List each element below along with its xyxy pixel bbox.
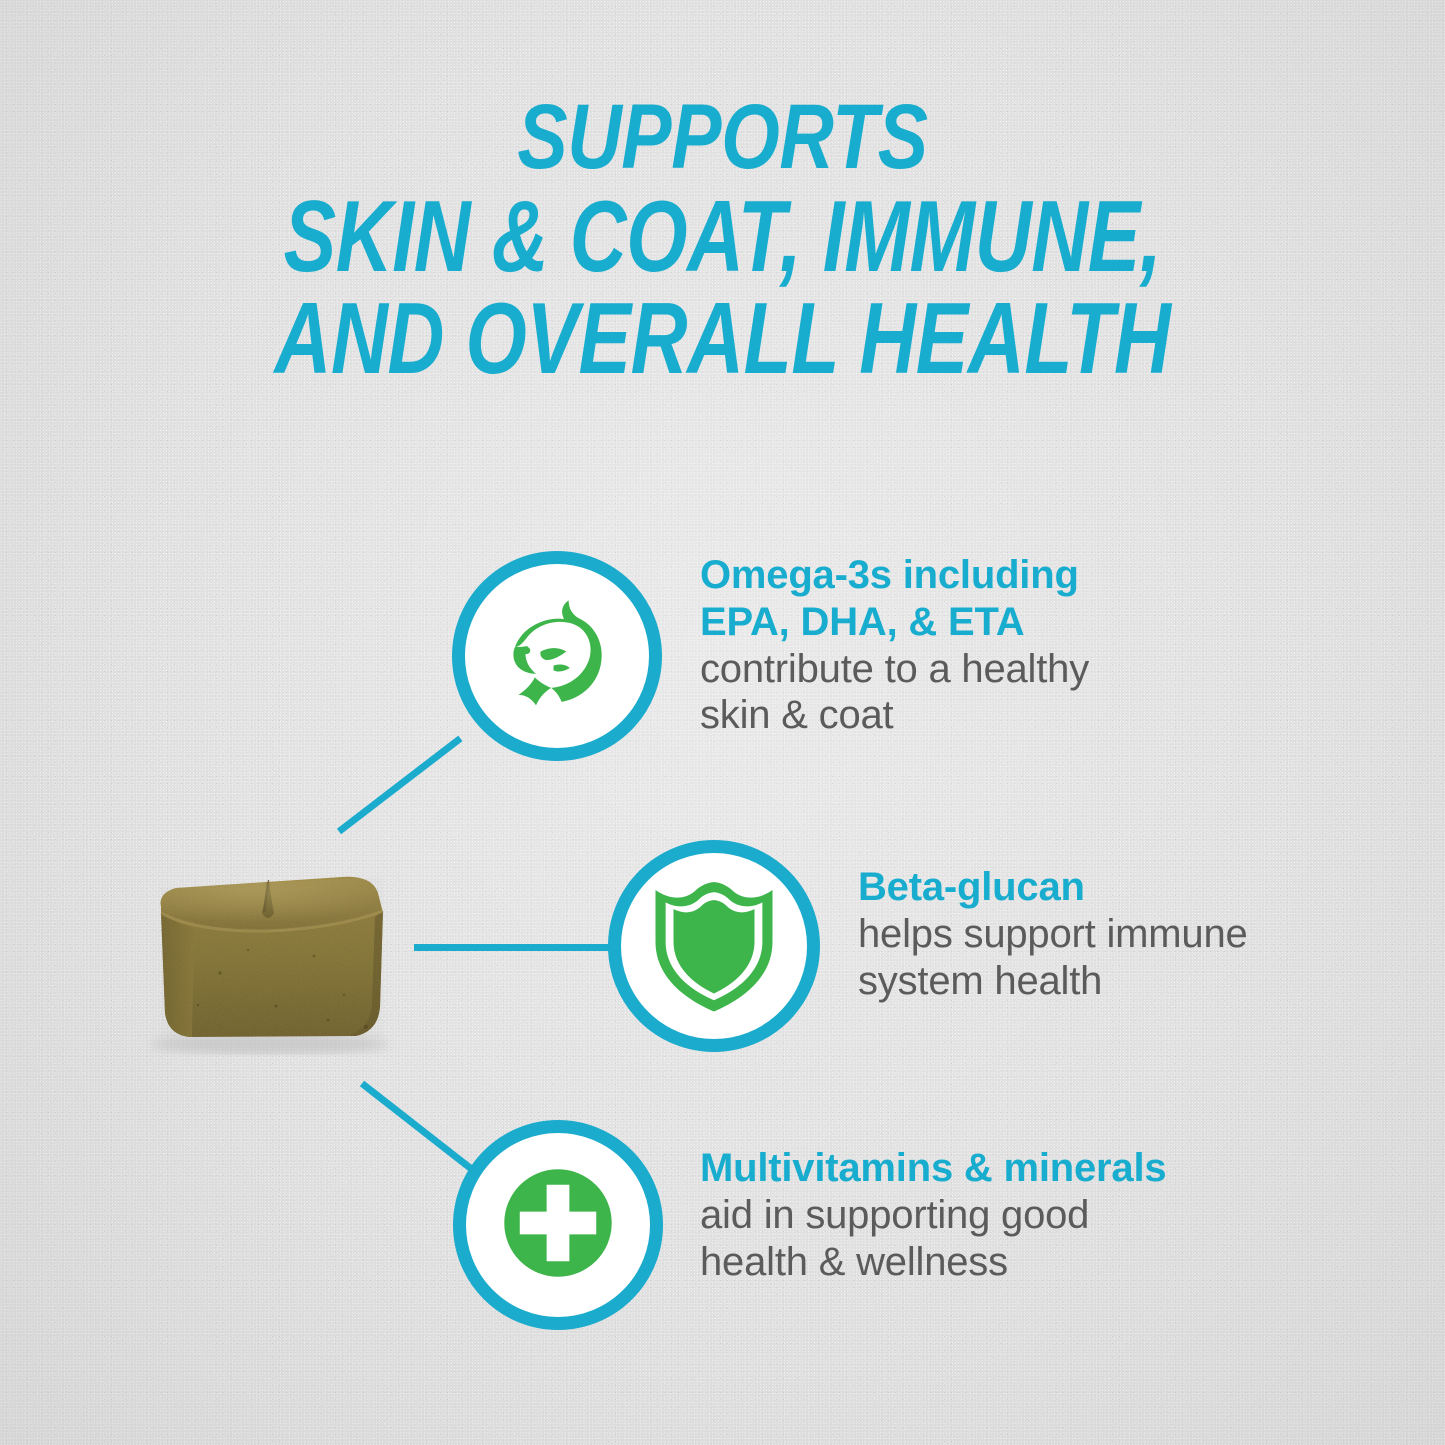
connector-line-fish [337,736,463,835]
connector-line-shield [414,944,614,951]
feature-icon-circle-fish[interactable] [452,551,662,761]
feature-text-fish: Omega-3s including EPA, DHA, & ETA contr… [700,552,1220,739]
feature-body-cross-line2: health & wellness [700,1239,1300,1286]
connector-line-cross [360,1081,486,1182]
feature-icon-circle-shield[interactable] [608,840,820,1052]
shield-icon [646,872,782,1021]
feature-body-shield-line2: system health [858,958,1378,1005]
fish-icon [487,584,627,729]
feature-title-cross: Multivitamins & minerals [700,1145,1300,1192]
feature-title-fish-line1: Omega-3s including [700,552,1220,599]
headline-line-3: AND OVERALL HEALTH [159,289,1286,389]
feature-text-cross: Multivitamins & minerals aid in supporti… [700,1145,1300,1285]
soft-chew-product-image [128,855,408,1055]
headline-line-2: SKIN & COAT, IMMUNE, [159,187,1286,287]
feature-body-shield-line1: helps support immune [858,911,1378,958]
feature-body-fish-line2: skin & coat [700,692,1220,739]
feature-body-cross-line1: aid in supporting good [700,1192,1300,1239]
headline: SUPPORTS SKIN & COAT, IMMUNE, AND OVERAL… [0,92,1445,389]
headline-line-1: SUPPORTS [130,92,1315,183]
feature-title-shield: Beta-glucan [858,864,1378,911]
feature-title-fish-line2: EPA, DHA, & ETA [700,599,1220,646]
feature-body-fish-line1: contribute to a healthy [700,646,1220,693]
feature-icon-circle-cross[interactable] [453,1120,663,1330]
infographic-canvas: SUPPORTS SKIN & COAT, IMMUNE, AND OVERAL… [0,0,1445,1445]
feature-text-shield: Beta-glucan helps support immune system … [858,864,1378,1004]
medical-cross-icon [496,1161,620,1290]
